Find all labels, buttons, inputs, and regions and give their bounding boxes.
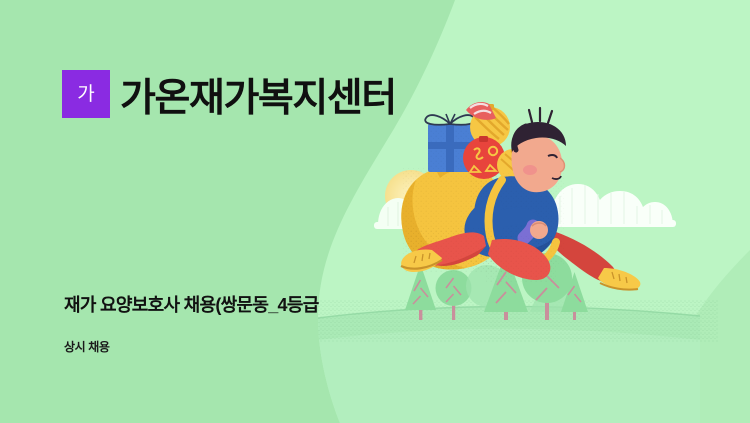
job-title: 재가 요양보호사 채용(쌍문동_4등급 bbox=[64, 291, 319, 317]
illustration bbox=[0, 0, 750, 423]
employment-type: 상시 채용 bbox=[64, 338, 110, 355]
company-logo-badge: 가 bbox=[62, 70, 110, 118]
company-name: 가온재가복지센터 bbox=[120, 70, 396, 120]
job-posting-card: 가 가온재가복지센터 재가 요양보호사 채용(쌍문동_4등급 상시 채용 bbox=[0, 0, 750, 423]
